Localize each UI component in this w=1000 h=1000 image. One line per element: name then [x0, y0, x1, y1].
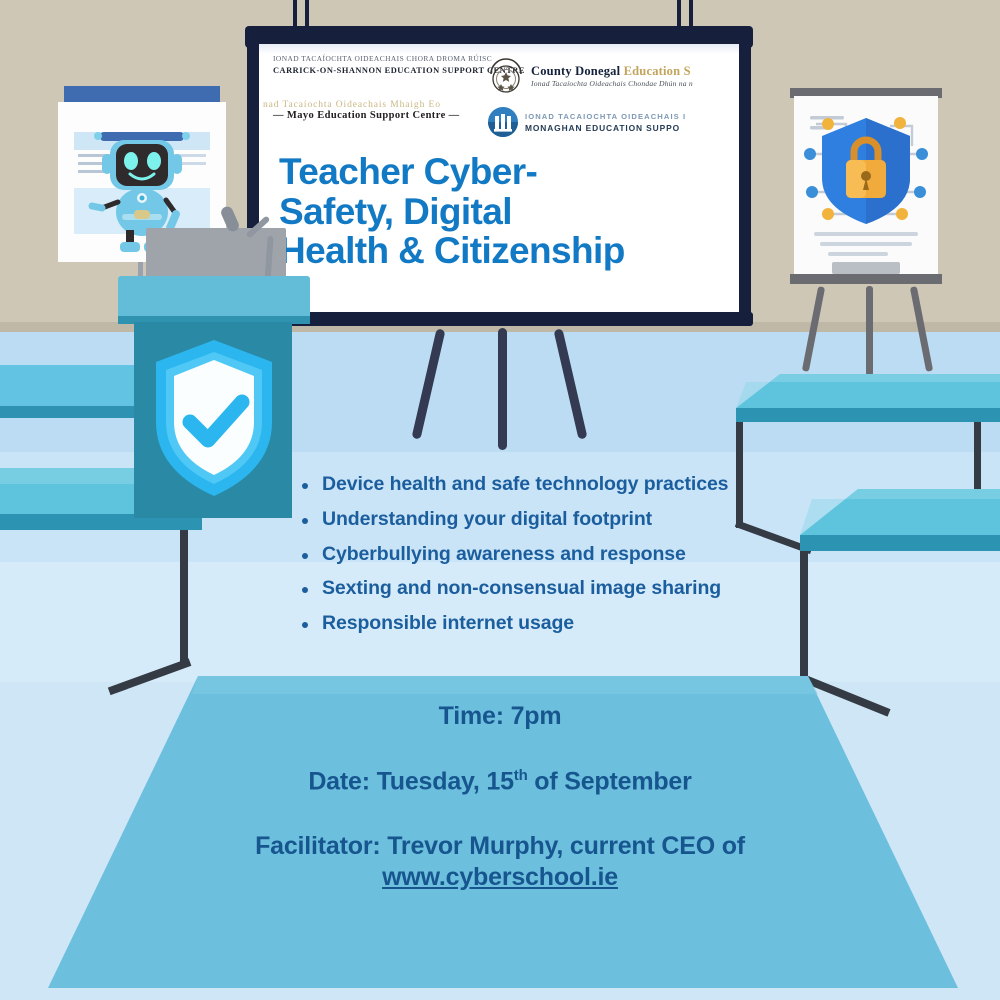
- logo-donegal-irish: Ionad Tacaíochta Oideachais Chondae Dhún…: [531, 79, 693, 88]
- logo-mayo-irish: nad Tacaíochta Oideachais Mhaigh Eo: [263, 100, 487, 110]
- list-item: Device health and safe technology practi…: [296, 474, 816, 496]
- event-date-ordinal: th: [514, 767, 528, 784]
- slide-title-line-3: Health & Citizenship: [279, 231, 729, 271]
- slide-surface: Ionad Tacaíochta Oideachais Chora Droma …: [259, 44, 739, 314]
- desk-top: [716, 370, 1000, 450]
- logo-county-donegal: County Donegal Education S Ionad Tacaíoc…: [487, 54, 739, 98]
- topic-list: Device health and safe technology practi…: [296, 474, 816, 648]
- slide-title-line-2: Safety, Digital: [279, 192, 729, 232]
- logo-monaghan-english: Monaghan Education Suppo: [525, 123, 686, 133]
- logo-carrick-on-shannon: Ionad Tacaíochta Oideachais Chora Droma …: [259, 54, 487, 98]
- screen-frame-right: [739, 40, 751, 322]
- poster-canvas: Ionad Tacaíochta Oideachais Chora Droma …: [0, 0, 1000, 1000]
- tripod-leg-center: [498, 328, 507, 450]
- projector-screen: Ionad Tacaíochta Oideachais Chora Droma …: [245, 0, 753, 340]
- desk-top: [786, 483, 1000, 579]
- logo-row-top: Ionad Tacaíochta Oideachais Chora Droma …: [259, 54, 739, 98]
- slide-title-line-1: Teacher Cyber-: [279, 152, 729, 192]
- facilitator-text: Facilitator: Trevor Murphy, current CEO …: [255, 832, 745, 860]
- podium: [118, 228, 310, 518]
- logo-row-bottom: nad Tacaíochta Oideachais Mhaigh Eo — Ma…: [259, 100, 739, 144]
- logo-carrick-irish: Ionad Tacaíochta Oideachais Chora Droma …: [273, 54, 487, 63]
- event-details: Time: 7pm Date: Tuesday, 15th of Septemb…: [130, 702, 870, 892]
- monaghan-pillars-icon: [487, 106, 519, 138]
- logo-mayo-english: — Mayo Education Support Centre —: [273, 110, 487, 121]
- shield-check-icon: [144, 336, 284, 508]
- list-item: Sexting and non-consensual image sharing: [296, 578, 816, 600]
- event-date-prefix: Date: Tuesday, 15: [308, 767, 513, 795]
- cyber-security-shield-lock-illustration: [794, 96, 938, 278]
- flipchart-bottom-bar: [790, 274, 942, 284]
- podium-body: [134, 322, 292, 518]
- logo-carrick-english: Carrick-On-Shannon Education Support Cen…: [273, 65, 487, 76]
- event-facilitator: Facilitator: Trevor Murphy, current CEO …: [130, 832, 870, 892]
- event-time: Time: 7pm: [130, 702, 870, 731]
- event-date: Date: Tuesday, 15th of September: [130, 767, 870, 796]
- flipchart-sheet: [794, 96, 938, 278]
- screen-bottom-bar: [245, 312, 753, 326]
- event-date-suffix: of September: [528, 767, 692, 795]
- right-flipchart: [790, 88, 942, 294]
- list-item: Responsible internet usage: [296, 613, 816, 635]
- cyberschool-link[interactable]: www.cyberschool.ie: [130, 863, 870, 892]
- list-item: Understanding your digital footprint: [296, 509, 816, 531]
- slide-title: Teacher Cyber- Safety, Digital Health & …: [279, 152, 729, 271]
- logo-donegal-english: County Donegal Education S: [531, 64, 693, 79]
- logo-mayo: nad Tacaíochta Oideachais Mhaigh Eo — Ma…: [259, 100, 487, 144]
- logo-monaghan: Ionad Tacaiochta Oideachais I Monaghan E…: [487, 100, 739, 144]
- logo-monaghan-irish: Ionad Tacaiochta Oideachais I: [525, 112, 686, 121]
- list-item: Cyberbullying awareness and response: [296, 544, 816, 566]
- easel-leg-center: [866, 286, 873, 376]
- donegal-crest-icon: [487, 57, 525, 95]
- logo-bank: Ionad Tacaíochta Oideachais Chora Droma …: [259, 50, 739, 146]
